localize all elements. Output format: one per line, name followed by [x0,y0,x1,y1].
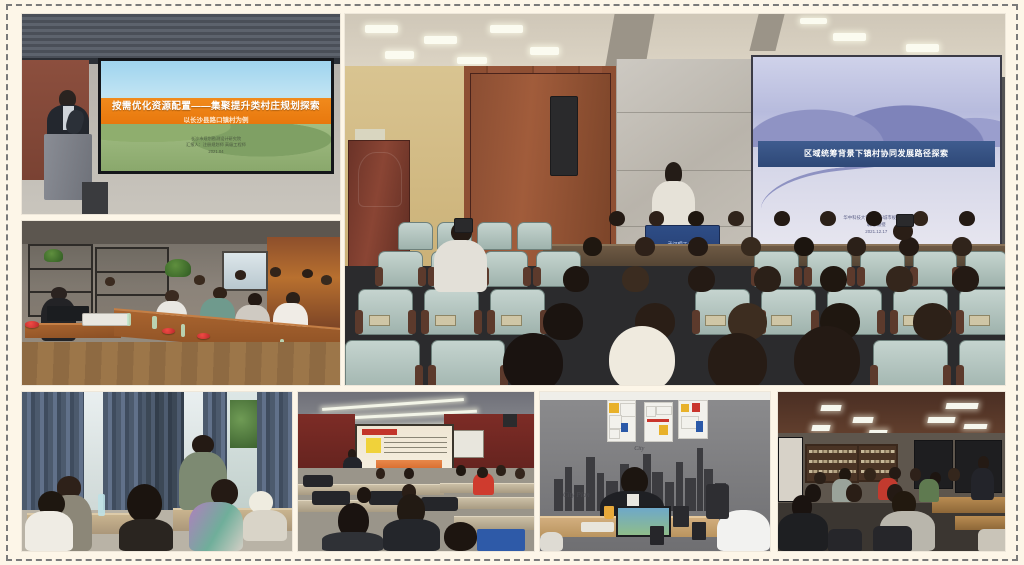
person-head [165,290,179,302]
photo-collage: 按需优化资源配置——集聚提升类村庄规划探索 以长沙县路口镇村为例 长沙市规划勘测… [0,0,1024,565]
audience-head [948,468,959,481]
audience-head [649,211,665,227]
audience-head [741,237,761,256]
auditorium-seat [431,340,506,385]
auditorium-seat [477,222,512,250]
audience-head [846,484,862,501]
paper-stack [581,522,613,532]
mondrian-panel-1 [607,400,637,442]
library-chair [828,529,862,551]
slide-credits: 长沙市规划勘测设计研究院 汇报人：注册规划师 高级工程师 2021.04 [101,136,330,156]
water-bottle [181,324,185,337]
audience-head [688,266,714,292]
standing-person-body [971,468,994,500]
audience-head [477,467,488,478]
slide-credit-date: 2021.04 [101,149,330,156]
drink-cup [604,506,613,519]
backpack [477,529,524,551]
ceiling-speaker [503,414,517,427]
audience-head [866,211,882,227]
lecture-chair [303,475,334,488]
audience-body-front [383,519,440,551]
fruit-plate [25,321,38,328]
main-slide-date: 2021.12.17 [753,228,1000,235]
office-chair [540,532,563,551]
auditorium-seat [484,251,529,286]
audience-head [543,303,583,340]
auditorium-seat [424,289,479,336]
person-head [127,484,162,522]
audience-head [847,237,867,256]
audience-head [952,237,972,256]
auditorium-seat [490,289,545,336]
projection-screen-1: 按需优化资源配置——集聚提升类村庄规划探索 以长沙县路口镇村为例 长沙市规划勘测… [98,58,333,174]
mondrian-panel-2 [644,402,674,442]
projector [82,313,129,326]
window-1 [222,251,267,291]
audience-head [515,468,524,479]
audience-head [820,211,836,227]
audience-head [708,333,767,385]
water-bottle [127,313,131,326]
photo-bottom-classroom[interactable] [22,392,292,551]
main-slide-title-banner: 区域统筹背景下镇村协同发展路径探索 [758,141,995,167]
auditorium-seat [517,222,552,250]
audience-head [583,237,603,256]
audience-head [794,326,860,385]
water-bottle [98,494,105,516]
auditorium-seat [345,340,420,385]
audience-body-front [322,532,383,551]
audience-head [952,266,978,292]
audience-head [913,211,929,227]
audience-head [635,237,655,256]
auditorium-seat [378,251,423,286]
audience-head [563,266,589,292]
audience-head [622,266,648,292]
auditorium-seat [873,340,948,385]
photo-bottom-office[interactable]: City Plan City [540,392,770,551]
audience-head [913,303,953,340]
standing-person-head [192,435,214,454]
desk-plaque [673,506,689,527]
person-head [213,287,227,299]
door-panel [778,437,803,503]
audience-body [919,479,939,501]
auditorium-seat [398,222,433,250]
library-table [932,497,1005,513]
potted-plant-2 [44,249,63,262]
auditorium-seat [358,289,413,336]
slide-title-banner: 按需优化资源配置——集聚提升类村庄规划探索 以长沙县路口镇村为例 [101,98,330,123]
person-head [235,270,246,280]
audience-head [820,266,846,292]
audience-head [456,465,465,476]
audience-head [910,468,921,481]
person-head [194,275,205,285]
bookshelf-1 [805,444,859,483]
slide-title: 按需优化资源配置——集聚提升类村庄规划探索 [112,98,320,112]
person-body [25,511,74,551]
audience-head [864,468,875,481]
audience-head [357,487,371,503]
audience-head [886,266,912,292]
auditorium-seat [959,340,1005,385]
auditorium-seat [959,289,1005,336]
main-slide-title: 区域统筹背景下镇村协同发展路径探索 [804,148,949,159]
audience-head [754,266,780,292]
audience-head [609,211,625,227]
audience-head [794,237,814,256]
library-chair [978,529,1005,551]
wall-notice [449,430,484,457]
camera-phone [454,218,473,233]
audience-head [404,468,413,479]
audience-head [503,333,562,385]
audience-body-front [778,513,828,551]
audience-head [688,211,704,227]
audience-head [959,211,975,227]
mondrian-panel-3 [678,400,708,439]
audience-head [728,211,744,227]
photo-middle-left[interactable] [22,221,340,385]
audience-head [688,237,708,256]
water-bottle [152,316,156,329]
person-head [270,267,281,277]
mural-text-city-plan: City Plan [563,491,590,499]
fruit-plate [197,333,210,340]
floor-equipment-box [82,182,107,214]
audience-head [814,472,825,485]
person-head [321,275,332,285]
desk-plaque [650,526,664,545]
lecture-chair [421,497,459,511]
lecture-chair [312,491,350,505]
audience-head-front [444,522,477,551]
photo-top-left[interactable]: 按需优化资源配置——集聚提升类村庄规划探索 以长沙县路口镇村为例 长沙市规划勘测… [22,14,340,214]
desk-plaque [692,522,706,539]
photographer-body [434,240,487,292]
ceiling-speaker [550,96,578,176]
camera-phone [896,214,914,227]
auditorium-seat [761,289,816,336]
photo-bottom-lecture-hall[interactable] [298,392,534,551]
audience-head [774,211,790,227]
photo-main-auditorium[interactable]: 区域统筹背景下镇村协同发展路径探索 华中科技大学建筑与城市规划学院 耿虹 教授 … [345,14,1005,385]
audience-head [496,465,505,476]
photo-bottom-library[interactable] [778,392,1005,551]
person-head [105,277,116,286]
slide-subtitle: 以长沙县路口镇村为例 [183,114,248,124]
library-chair [873,526,912,551]
potted-plant-1 [165,259,190,277]
person-body [189,502,243,551]
auditorium-seat [913,251,958,286]
person-body [243,510,286,542]
person-body [119,519,173,551]
cabinet [706,484,729,519]
